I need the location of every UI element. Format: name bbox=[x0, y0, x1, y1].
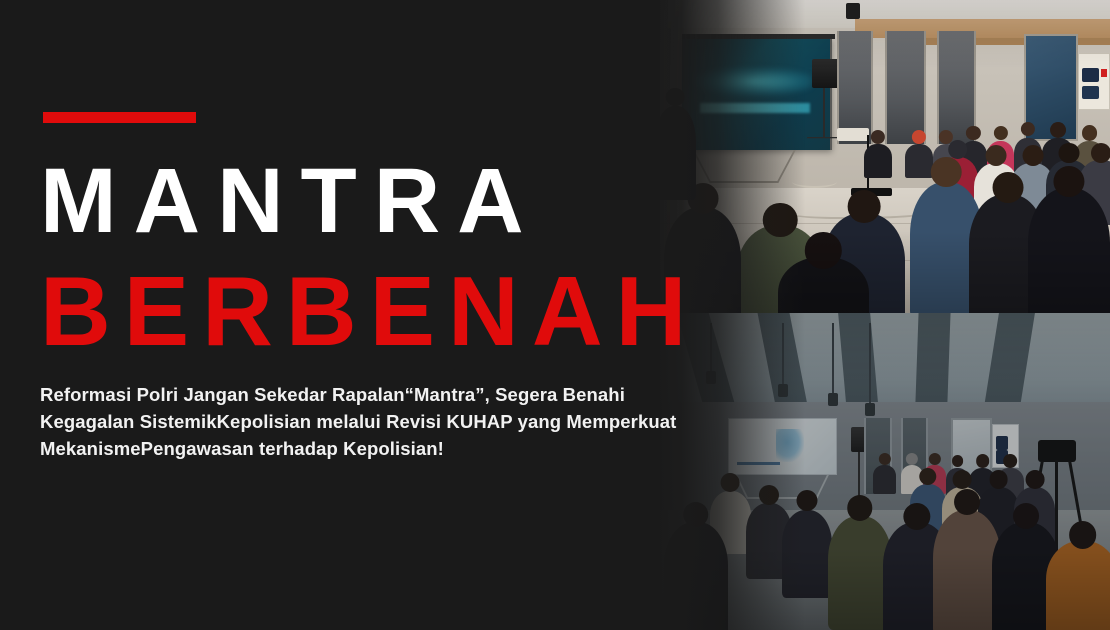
audience-crowd-top bbox=[655, 0, 1110, 313]
photo-column bbox=[655, 0, 1110, 630]
audience-crowd-bottom bbox=[655, 313, 1110, 630]
accent-rule bbox=[43, 112, 196, 123]
headline-secondary: BERBENAH bbox=[40, 264, 699, 358]
photo-top-scene bbox=[655, 0, 1110, 313]
text-panel: MANTRA BERBENAH Reformasi Polri Jangan S… bbox=[0, 0, 700, 630]
subheadline-text: Reformasi Polri Jangan Sekedar Rapalan“M… bbox=[40, 381, 685, 463]
event-photo-bottom bbox=[655, 313, 1110, 630]
headline-primary: MANTRA bbox=[40, 157, 541, 245]
poster-canvas: MANTRA BERBENAH Reformasi Polri Jangan S… bbox=[0, 0, 1110, 630]
photo-bottom-scene bbox=[655, 313, 1110, 630]
event-photo-top bbox=[655, 0, 1110, 313]
